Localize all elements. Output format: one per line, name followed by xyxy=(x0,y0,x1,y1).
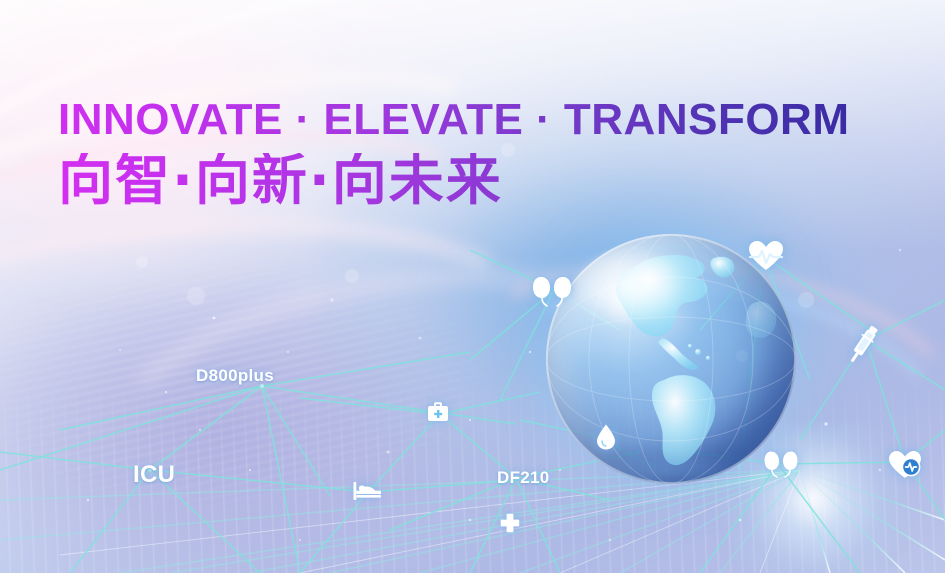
kidneys-icon xyxy=(763,450,799,478)
headline-block: INNOVATE · ELEVATE · TRANSFORM 向智·向新·向未来 xyxy=(58,98,850,208)
heart-monitor-icon xyxy=(888,450,922,480)
label-icu: ICU xyxy=(133,461,175,489)
label-df210: DF210 xyxy=(497,468,550,488)
promo-banner: D800plus ICU DF210 INNOVATE · ELEVATE · … xyxy=(0,0,945,573)
globe-shadow xyxy=(561,449,781,489)
medical-cross-icon xyxy=(500,513,520,533)
hospital-bed-icon xyxy=(353,481,381,501)
heart-pulse-icon xyxy=(748,240,784,272)
kidneys-icon xyxy=(531,275,573,307)
medical-bag-icon xyxy=(427,401,449,423)
headline-english: INNOVATE · ELEVATE · TRANSFORM xyxy=(58,98,850,142)
headline-chinese: 向智·向新·向未来 xyxy=(58,153,850,208)
label-d800plus: D800plus xyxy=(196,366,274,386)
water-drop-icon xyxy=(596,424,616,450)
